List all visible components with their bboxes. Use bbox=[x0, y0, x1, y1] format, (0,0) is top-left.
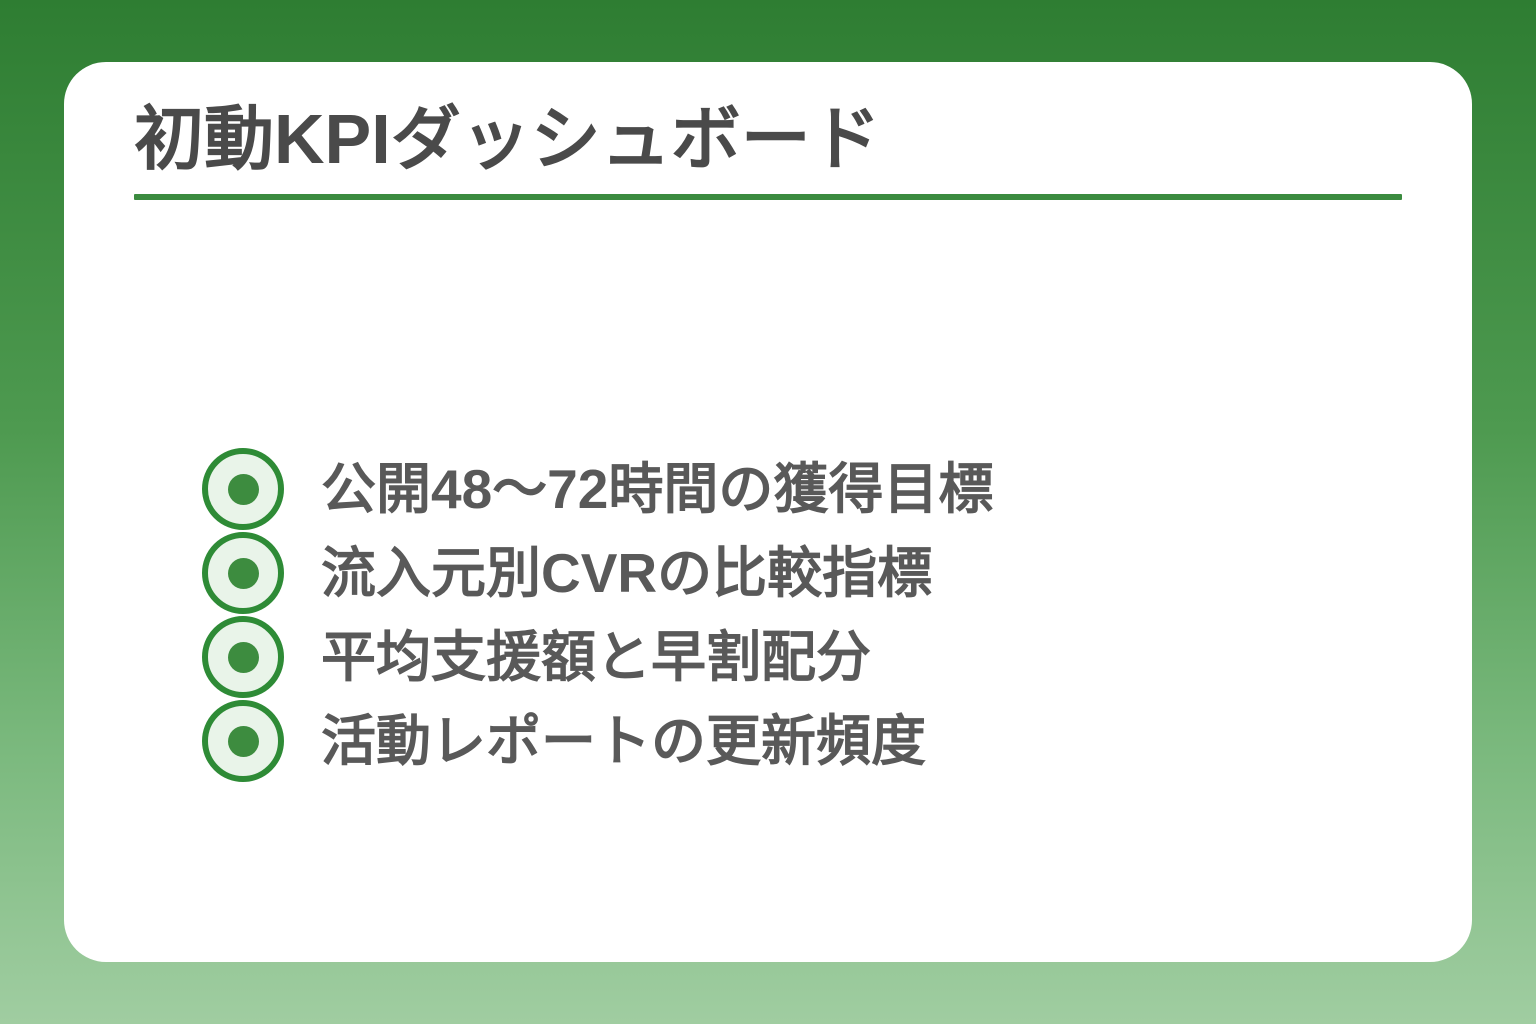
list-item-label: 公開48〜72時間の獲得目標 bbox=[321, 462, 993, 517]
filled-circle-bullet-icon bbox=[202, 616, 284, 698]
filled-circle-bullet-icon bbox=[202, 700, 284, 782]
filled-circle-bullet-icon bbox=[202, 448, 284, 530]
bullet-inner-dot-icon bbox=[228, 558, 259, 589]
filled-circle-bullet-icon bbox=[202, 532, 284, 614]
page-title: 初動KPIダッシュボード bbox=[134, 100, 1402, 178]
bullet-list: 公開48〜72時間の獲得目標 流入元別CVRの比較指標 平均支援額と早割配分 活… bbox=[202, 447, 1402, 783]
content-card: 初動KPIダッシュボード 公開48〜72時間の獲得目標 流入元別CVRの比較指標 bbox=[64, 62, 1472, 962]
bullet-inner-dot-icon bbox=[228, 642, 259, 673]
list-item: 流入元別CVRの比較指標 bbox=[202, 531, 1402, 615]
slide-root: 初動KPIダッシュボード 公開48〜72時間の獲得目標 流入元別CVRの比較指標 bbox=[0, 0, 1536, 1024]
title-underline-rule bbox=[134, 194, 1402, 200]
bullet-inner-dot-icon bbox=[228, 474, 259, 505]
list-item-label: 活動レポートの更新頻度 bbox=[321, 714, 926, 769]
bullet-inner-dot-icon bbox=[228, 726, 259, 757]
list-item-label: 流入元別CVRの比較指標 bbox=[321, 546, 932, 601]
list-item: 公開48〜72時間の獲得目標 bbox=[202, 447, 1402, 531]
list-item-label: 平均支援額と早割配分 bbox=[321, 630, 871, 685]
list-item: 平均支援額と早割配分 bbox=[202, 615, 1402, 699]
card-header: 初動KPIダッシュボード bbox=[134, 100, 1402, 200]
list-item: 活動レポートの更新頻度 bbox=[202, 699, 1402, 783]
